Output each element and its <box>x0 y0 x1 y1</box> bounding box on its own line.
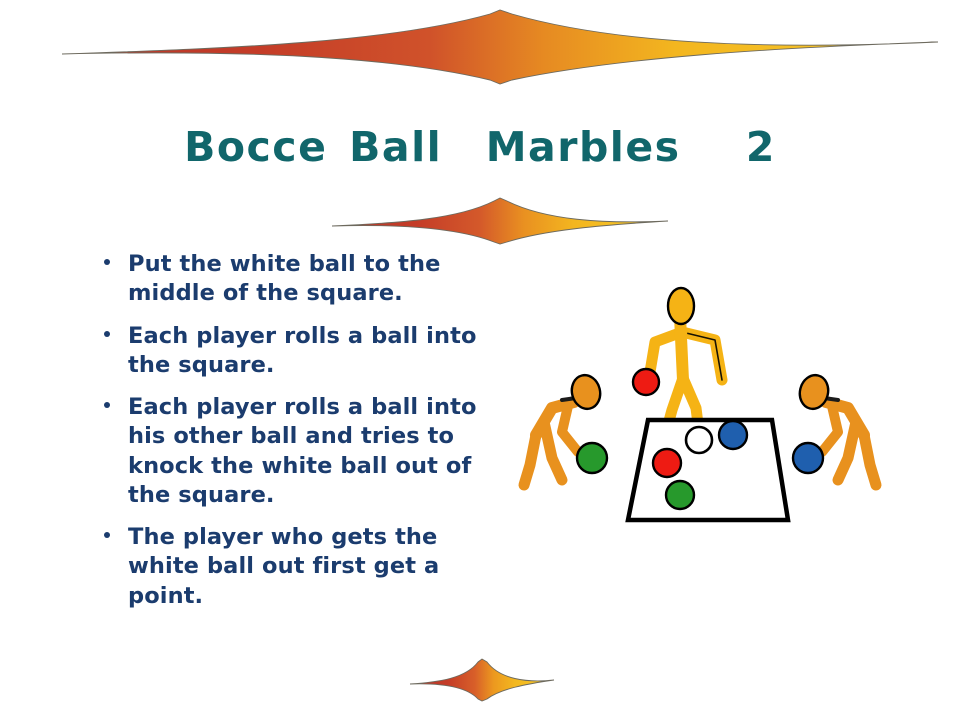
player-top-figure <box>633 288 722 432</box>
bullet-point-icon <box>96 250 128 265</box>
list-item-label: The player who gets the white ball out f… <box>128 523 496 611</box>
ball-red-top-player <box>633 369 659 395</box>
list-item-label: Each player rolls a ball into his other … <box>128 393 496 510</box>
ball-blue-in-court <box>719 421 747 449</box>
middle-divider-diamond-icon <box>330 196 670 246</box>
bottom-divider-diamond-icon <box>408 658 556 702</box>
slide-canvas: Bocce Ball Marbles 2 Put the white ball … <box>0 0 960 720</box>
ball-blue-right-player <box>793 443 823 473</box>
list-item-label: Each player rolls a ball into the square… <box>128 322 496 381</box>
list-item-label: Put the white ball to the middle of the … <box>128 250 496 309</box>
ball-white-target <box>686 427 712 453</box>
list-item: The player who gets the white ball out f… <box>96 523 496 611</box>
list-item: Each player rolls a ball into the square… <box>96 322 496 381</box>
list-item: Each player rolls a ball into his other … <box>96 393 496 510</box>
bullet-point-icon <box>96 393 128 408</box>
top-divider-diamond-icon <box>60 8 940 86</box>
bullet-point-icon <box>96 523 128 538</box>
list-item: Put the white ball to the middle of the … <box>96 250 496 309</box>
ball-red-in-court <box>653 449 681 477</box>
bocce-court-illustration <box>500 280 900 540</box>
player-left-figure <box>524 372 607 485</box>
bullet-list: Put the white ball to the middle of the … <box>96 250 496 624</box>
page-title: Bocce Ball Marbles 2 <box>0 123 960 171</box>
ball-green-left-player <box>577 443 607 473</box>
player-right-figure <box>793 372 876 485</box>
ball-green-in-court <box>666 481 694 509</box>
bullet-point-icon <box>96 322 128 337</box>
